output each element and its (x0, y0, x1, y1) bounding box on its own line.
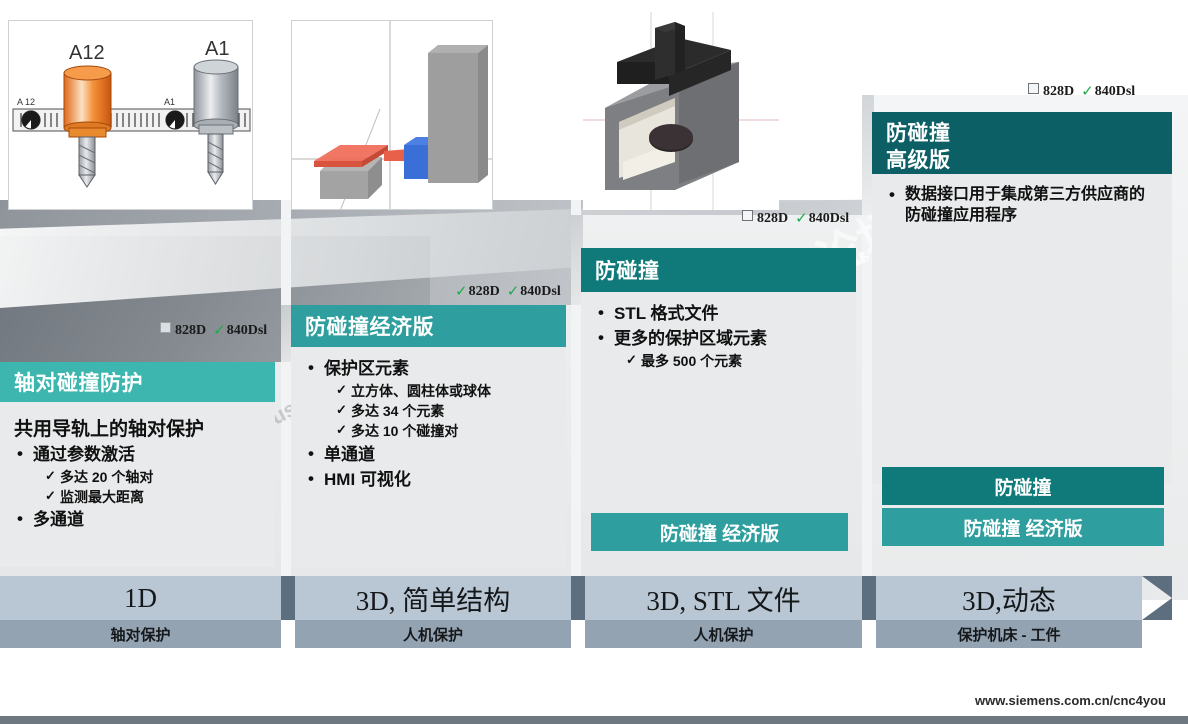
card-col4-body: 数据接口用于集成第三方供应商的防碰撞应用程序 (872, 174, 1172, 484)
card-col3: 防碰撞 STL 格式文件 更多的保护区域元素 最多 500 个元素 防碰撞 经济… (581, 248, 856, 514)
badge-label-840dsl-col2: 840Dsl (520, 284, 560, 299)
card-col1: 轴对碰撞防护 共用导轨上的轴对保护 通过参数激活 多达 20 个轴对 监测最大距… (0, 362, 275, 567)
sub-bullet: 最多 500 个元素 (626, 352, 842, 370)
badge-label-828d-col3: 828D (757, 211, 788, 226)
card-col1-body: 共用导轨上的轴对保护 通过参数激活 多达 20 个轴对 监测最大距离 多通道 (0, 402, 275, 567)
bullet: HMI 可视化 (305, 469, 552, 491)
badge-col2: ✓828D✓840Dsl (455, 282, 561, 300)
axis-pair-illustration: A 12 A1 (9, 21, 252, 209)
sub-bullets: 最多 500 个元素 (614, 352, 842, 370)
sub-bullets: 立方体、圆柱体或球体 多达 34 个元素 多达 10 个碰撞对 (324, 382, 552, 441)
card-col4: 防碰撞 高级版 数据接口用于集成第三方供应商的防碰撞应用程序 防碰撞 防碰撞 经… (872, 112, 1172, 484)
bullet: 保护区元素 立方体、圆柱体或球体 多达 34 个元素 多达 10 个碰撞对 (305, 358, 552, 441)
bullet: 单通道 (305, 444, 552, 466)
checkbox-828d-col3 (742, 210, 753, 221)
stl-model-illustration (583, 12, 779, 210)
thumb1-label-a1: A1 (205, 38, 229, 60)
stair-riser-1 (281, 200, 291, 576)
thumb-3d-simple (291, 20, 493, 210)
badge-label-828d-col4: 828D (1043, 84, 1074, 99)
bottom-bar: 1D 轴对保护 3D, 简单结构 人机保护 3D, STL 文件 人机保护 3D… (0, 576, 1188, 648)
bottom-cell-3-top: 3D, STL 文件 (585, 576, 862, 620)
bullet: STL 格式文件 (595, 303, 842, 325)
bottom-cell-3-bottom: 人机保护 (585, 620, 862, 648)
bottom-cell-2-top: 3D, 简单结构 (295, 576, 571, 620)
badge-col1: 828D✓840Dsl (160, 321, 267, 339)
bottom-sep-1 (281, 576, 295, 620)
sub-bullet: 立方体、圆柱体或球体 (336, 382, 552, 400)
badge-label-840dsl-col3: 840Dsl (809, 211, 849, 226)
footer-url: www.siemens.com.cn/cnc4you (975, 693, 1166, 708)
card-col2-body: 保护区元素 立方体、圆柱体或球体 多达 34 个元素 多达 10 个碰撞对 单通… (291, 347, 566, 567)
card-col4-strip-economy: 防碰撞 经济版 (882, 508, 1164, 546)
bullet-text: 保护区元素 (324, 359, 409, 378)
badge-col4: 828D✓840Dsl (1028, 82, 1135, 100)
thumb-3d-stl (583, 12, 779, 210)
bottom-cell-1-bottom: 轴对保护 (0, 620, 281, 648)
card-col2: 防碰撞经济版 保护区元素 立方体、圆柱体或球体 多达 34 个元素 多达 10 … (291, 305, 566, 567)
sub-bullet: 监测最大距离 (45, 488, 261, 506)
check-icon-840dsl-col1: ✓ (213, 321, 226, 339)
checkbox-828d-col4 (1028, 83, 1039, 94)
card-col4-title: 防碰撞 高级版 (872, 112, 1172, 174)
card-col3-bullets: STL 格式文件 更多的保护区域元素 最多 500 个元素 (595, 303, 842, 370)
bottom-cell-2-bottom: 人机保护 (295, 620, 571, 648)
card-col4-strip-main: 防碰撞 (882, 467, 1164, 505)
svg-text:A1: A1 (164, 97, 175, 107)
bullet: 数据接口用于集成第三方供应商的防碰撞应用程序 (886, 185, 1158, 227)
bullet: 更多的保护区域元素 最多 500 个元素 (595, 328, 842, 370)
sub-bullet: 多达 34 个元素 (336, 402, 552, 420)
card-col4-title-line2: 高级版 (886, 148, 1158, 175)
bottom-cell-4-bottom: 保护机床 - 工件 (876, 620, 1142, 648)
card-col1-lead: 共用导轨上的轴对保护 (14, 414, 261, 441)
svg-text:A 12: A 12 (17, 97, 35, 107)
check-icon-828d-col2: ✓ (455, 282, 468, 300)
bullet: 多通道 (14, 509, 261, 531)
badge-label-840dsl-col4: 840Dsl (1095, 84, 1135, 99)
card-col3-strip-economy: 防碰撞 经济版 (591, 513, 848, 551)
checkbox-828d-col1 (160, 322, 171, 333)
sub-bullet: 多达 10 个碰撞对 (336, 422, 552, 440)
card-col4-bullets: 数据接口用于集成第三方供应商的防碰撞应用程序 (886, 185, 1158, 227)
bottom-sep-3 (862, 576, 876, 620)
card-col4-title-line1: 防碰撞 (886, 121, 1158, 148)
bullet-text: 通过参数激活 (33, 445, 135, 464)
bottom-cell-2: 3D, 简单结构 人机保护 (295, 576, 571, 648)
check-icon-840dsl-col2: ✓ (507, 282, 520, 300)
bottom-cell-1: 1D 轴对保护 (0, 576, 281, 648)
bottom-cell-4-top: 3D,动态 (876, 576, 1142, 620)
bottom-cell-1-top: 1D (0, 576, 281, 620)
badge-col3: 828D✓840Dsl (742, 209, 849, 227)
footer-rule (0, 716, 1188, 724)
card-col2-title: 防碰撞经济版 (291, 305, 566, 347)
sub-bullet: 多达 20 个轴对 (45, 468, 261, 486)
card-col3-body: STL 格式文件 更多的保护区域元素 最多 500 个元素 (581, 292, 856, 514)
collision-3d-simple-illustration (292, 21, 492, 209)
check-icon-840dsl-col3: ✓ (795, 209, 808, 227)
badge-label-840dsl-col1: 840Dsl (227, 323, 267, 338)
thumb-axis-pair: A 12 A1 (8, 20, 253, 210)
slide-canvas: 之云工业论坛 support.industry.siemens support.… (0, 0, 1188, 724)
bullet: 通过参数激活 多达 20 个轴对 监测最大距离 (14, 444, 261, 506)
card-col3-title: 防碰撞 (581, 248, 856, 292)
badge-label-828d-col1: 828D (175, 323, 206, 338)
check-icon-840dsl-col4: ✓ (1081, 82, 1094, 100)
badge-label-828d-col2: 828D (469, 284, 500, 299)
sub-bullets: 多达 20 个轴对 监测最大距离 (33, 468, 261, 506)
bottom-cell-3: 3D, STL 文件 人机保护 (585, 576, 862, 648)
card-col2-bullets: 保护区元素 立方体、圆柱体或球体 多达 34 个元素 多达 10 个碰撞对 单通… (305, 358, 552, 491)
bottom-sep-2 (571, 576, 585, 620)
bottom-arrow-icon (1142, 576, 1172, 620)
bullet-text: 更多的保护区域元素 (614, 329, 767, 348)
card-col1-title: 轴对碰撞防护 (0, 362, 275, 402)
thumb1-label-a12: A12 (69, 42, 105, 64)
bottom-cell-4: 3D,动态 保护机床 - 工件 (876, 576, 1142, 648)
card-col1-bullets: 通过参数激活 多达 20 个轴对 监测最大距离 多通道 (14, 444, 261, 532)
